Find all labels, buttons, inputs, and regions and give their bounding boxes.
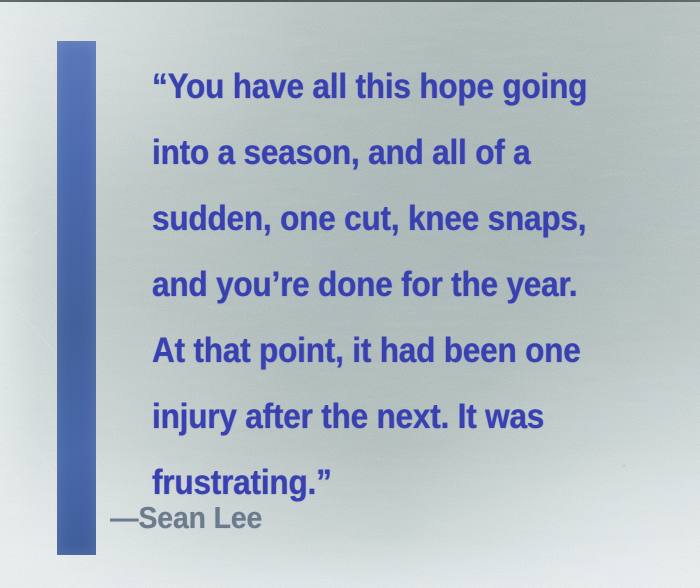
quote-line: “You have all this hope going: [152, 54, 575, 120]
quote-line: injury after the next. It was: [152, 384, 575, 450]
quote-line: sudden, one cut, knee snaps,: [152, 186, 575, 252]
quote-line: and you’re done for the year.: [152, 252, 575, 318]
quote-text-block: “You have all this hope going into a sea…: [152, 54, 622, 516]
top-border-rule: [0, 0, 700, 2]
quote-card: “You have all this hope going into a sea…: [0, 0, 700, 588]
quote-line: At that point, it had been one: [152, 318, 575, 384]
vertical-accent-bar: [57, 41, 96, 555]
quote-line: into a season, and all of a: [152, 120, 575, 186]
quote-attribution: —Sean Lee: [110, 498, 262, 538]
